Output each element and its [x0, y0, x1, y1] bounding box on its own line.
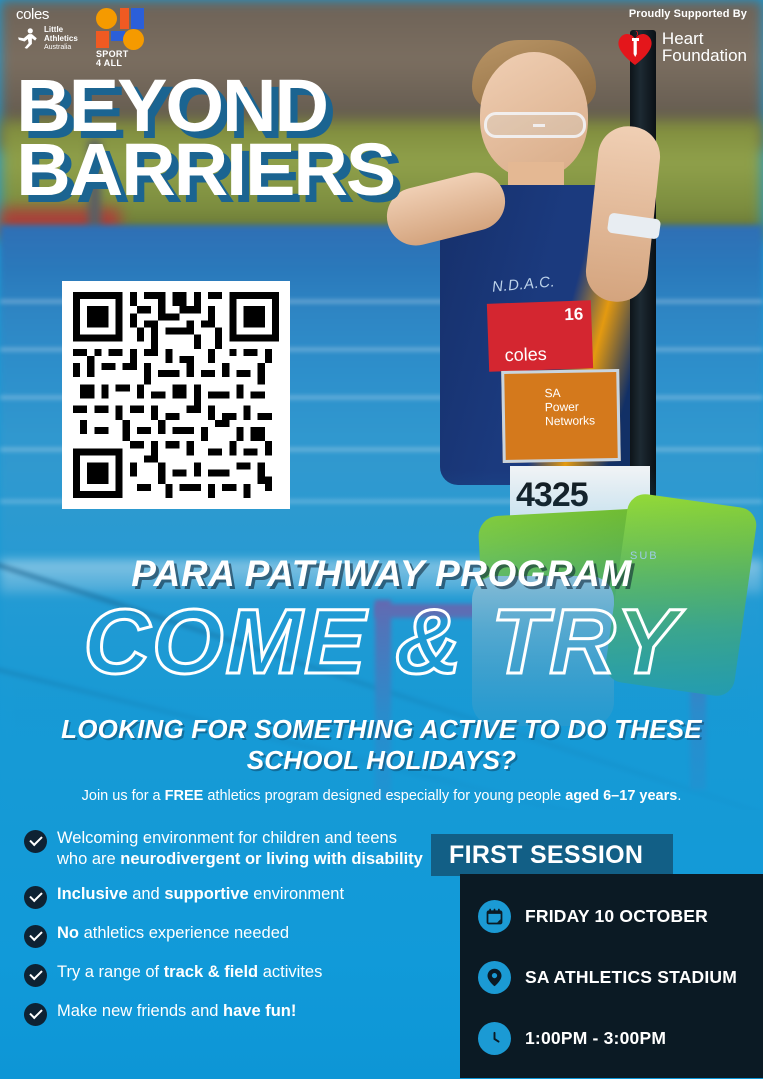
- photo-red-bib: 16 coles: [487, 300, 593, 372]
- little-athletics-wordmark: Little Athletics Australia: [44, 26, 78, 52]
- page-title: BEYOND BARRIERS: [16, 74, 394, 201]
- qr-code-image[interactable]: [73, 292, 279, 498]
- session-date-text: FRIDAY 10 OCTOBER: [525, 906, 708, 927]
- list-item-text-part: environment: [249, 885, 344, 903]
- coles-wordmark: coles: [16, 6, 86, 23]
- intro-text-middle: athletics program designed especially fo…: [203, 788, 565, 804]
- supporter-prefix: Proudly Supported By: [615, 8, 747, 20]
- photo-vest-sponsor-line2: Power: [545, 400, 617, 415]
- first-session-details: FRIDAY 10 OCTOBER SA ATHLETICS STADIUM: [460, 874, 763, 1078]
- list-item-label: Try a range of track & field activites: [57, 962, 322, 983]
- photo-vest-sponsor-line3: Networks: [545, 414, 617, 429]
- la-line2: Athletics: [44, 35, 78, 44]
- intro-text-before: Join us for a: [82, 788, 165, 804]
- location-pin-icon: [478, 961, 511, 994]
- intro-free: FREE: [165, 788, 204, 804]
- program-label: PARA PATHWAY PROGRAM: [0, 553, 763, 595]
- session-time-row: 1:00PM - 3:00PM: [478, 1022, 763, 1055]
- photo-bib-number: 16: [564, 304, 584, 325]
- photo-bib-sponsor: coles: [504, 344, 547, 366]
- clock-icon: [478, 1022, 511, 1055]
- headline: LOOKING FOR SOMETHING ACTIVE TO DO THESE…: [14, 714, 749, 775]
- sport4all-icon: [96, 8, 144, 48]
- list-item: Welcoming environment for children and t…: [24, 828, 424, 870]
- first-session-heading: FIRST SESSION: [431, 834, 673, 876]
- title-line-2: BARRIERS: [16, 138, 394, 202]
- list-item-text-part: and: [128, 885, 165, 903]
- list-item-text-part: have fun!: [223, 1002, 296, 1020]
- list-item-text-part: Inclusive: [57, 885, 128, 903]
- list-item: Inclusive and supportive environment: [24, 884, 424, 909]
- headline-line-1: LOOKING FOR SOMETHING ACTIVE TO DO THESE: [14, 714, 749, 745]
- sport4all-wordmark: SPORT 4 ALL: [96, 50, 152, 69]
- heart-foundation-wordmark: Heart Foundation: [662, 30, 747, 65]
- photo-vest-sponsor: SA Power Networks: [501, 369, 621, 463]
- qr-code[interactable]: [62, 281, 290, 509]
- session-location-row: SA ATHLETICS STADIUM: [478, 961, 763, 994]
- check-circle-icon: [24, 830, 47, 853]
- sport4all-line2: 4 ALL: [96, 59, 152, 68]
- list-item-text-part: track & field: [164, 963, 258, 981]
- list-item-text-part: athletics experience needed: [79, 924, 289, 942]
- list-item: Try a range of track & field activites: [24, 962, 424, 987]
- list-item-text-part: No: [57, 924, 79, 942]
- list-item: Make new friends and have fun!: [24, 1001, 424, 1026]
- check-circle-icon: [24, 1003, 47, 1026]
- list-item-label: Make new friends and have fun!: [57, 1001, 296, 1022]
- session-time-text: 1:00PM - 3:00PM: [525, 1028, 666, 1049]
- hf-line1: Heart: [662, 30, 747, 47]
- runner-icon: [14, 26, 40, 52]
- intro-age: aged 6–17 years: [565, 788, 677, 804]
- check-circle-icon: [24, 886, 47, 909]
- heart-torch-icon: [615, 27, 655, 67]
- intro-paragraph: Join us for a FREE athletics program des…: [20, 787, 743, 806]
- check-circle-icon: [24, 925, 47, 948]
- session-date-row: FRIDAY 10 OCTOBER: [478, 900, 763, 933]
- list-item-text-part: neurodivergent or living with disability: [120, 850, 423, 868]
- intro-text-after: .: [677, 788, 681, 804]
- supporter-block: Proudly Supported By Heart Foundation: [615, 8, 747, 67]
- little-athletics-logo: coles Little Athletics Australia: [14, 6, 86, 52]
- list-item-text-part: Try a range of: [57, 963, 164, 981]
- session-location-text: SA ATHLETICS STADIUM: [525, 967, 737, 988]
- list-item-label: No athletics experience needed: [57, 923, 289, 944]
- list-item-text-part: activites: [258, 963, 322, 981]
- la-line3: Australia: [44, 44, 78, 52]
- list-item-label: Welcoming environment for children and t…: [57, 828, 424, 870]
- list-item-text-part: Make new friends and: [57, 1002, 223, 1020]
- benefits-list: Welcoming environment for children and t…: [24, 828, 424, 1040]
- check-circle-icon: [24, 964, 47, 987]
- list-item-text-part: supportive: [164, 885, 248, 903]
- list-item-label: Inclusive and supportive environment: [57, 884, 344, 905]
- photo-athlete-glasses: [484, 112, 586, 138]
- partner-logos: coles Little Athletics Australia SPORT: [14, 6, 152, 69]
- list-item: No athletics experience needed: [24, 923, 424, 948]
- poster-root: N.D.A.C. 16 coles SA Power Networks 4325…: [0, 0, 763, 1079]
- come-and-try-heading: COME & TRY: [0, 594, 763, 691]
- sport4all-logo: SPORT 4 ALL: [96, 8, 152, 69]
- calendar-icon: [478, 900, 511, 933]
- hf-line2: Foundation: [662, 47, 747, 64]
- first-session-panel: FIRST SESSION FRIDAY 10 OCTOBER: [431, 834, 673, 876]
- headline-line-2: SCHOOL HOLIDAYS?: [14, 745, 749, 776]
- photo-vest-sponsor-line1: SA: [544, 386, 616, 401]
